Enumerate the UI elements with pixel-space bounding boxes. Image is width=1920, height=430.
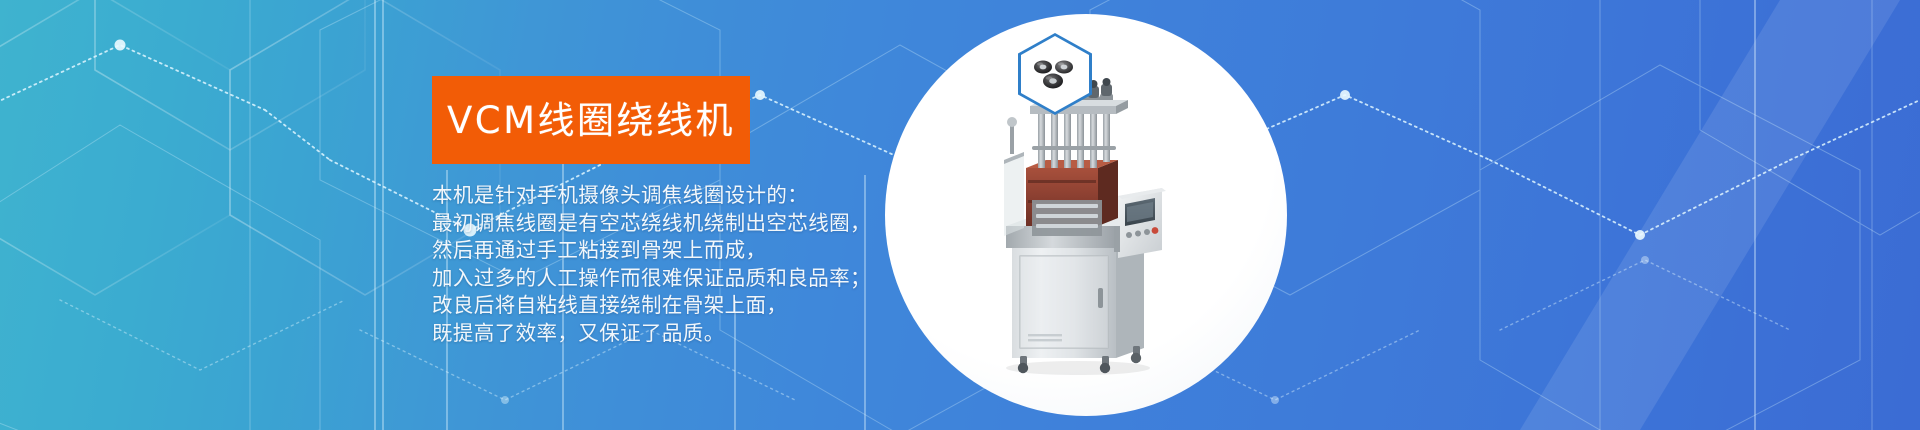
description-block: 本机是针对手机摄像头调焦线圈设计的： 最初调焦线圈是有空芯绕线机绕制出空芯线圈，… bbox=[432, 182, 871, 347]
product-banner: VCM线圈绕线机 本机是针对手机摄像头调焦线圈设计的： 最初调焦线圈是有空芯绕线… bbox=[0, 0, 1920, 430]
description-line-4: 加入过多的人工操作而很难保证品质和良品率； bbox=[432, 265, 871, 293]
description-line-3: 然后再通过手工粘接到骨架上而成， bbox=[432, 237, 871, 265]
coil-product-sample-badge bbox=[1018, 33, 1092, 115]
description-line-6: 既提高了效率，又保证了品质。 bbox=[432, 320, 871, 348]
title-plate: VCM线圈绕线机 bbox=[432, 76, 750, 164]
description-line-1: 本机是针对手机摄像头调焦线圈设计的： bbox=[432, 182, 871, 210]
page-title: VCM线圈绕线机 bbox=[447, 102, 735, 139]
description-line-2: 最初调焦线圈是有空芯绕线机绕制出空芯线圈， bbox=[432, 210, 871, 238]
coil-samples-icon bbox=[1018, 33, 1092, 115]
description-line-5: 改良后将自粘线直接绕制在骨架上面， bbox=[432, 292, 871, 320]
